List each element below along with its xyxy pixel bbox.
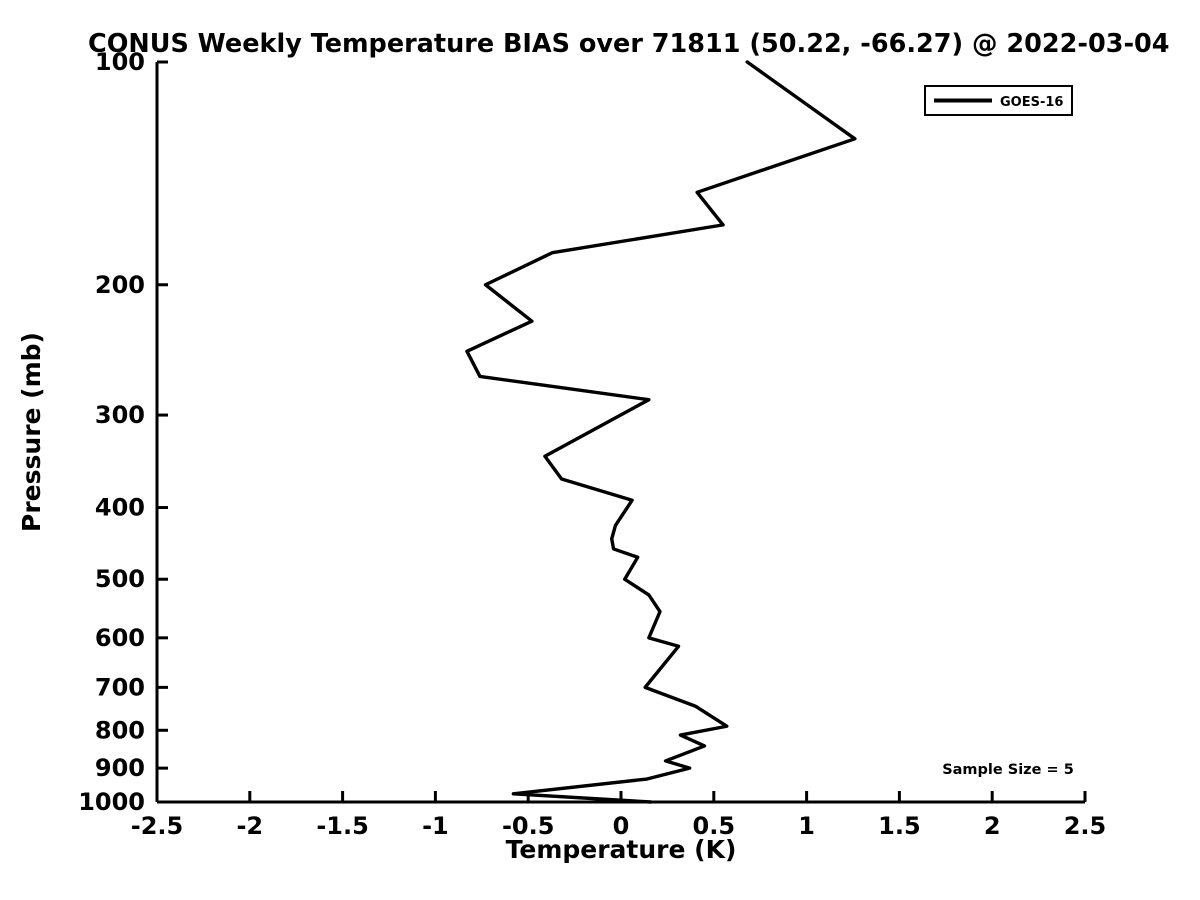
y-tick-label: 700 [95,673,145,701]
sample-size-annotation: Sample Size = 5 [942,762,1074,778]
x-tick-label: -1 [422,812,449,840]
x-tick-label: 1.5 [878,812,921,840]
legend-label-goes-16: GOES-16 [1000,95,1063,110]
y-tick-label: 600 [95,624,145,652]
chart-canvas: CONUS Weekly Temperature BIAS over 71811… [0,0,1200,900]
x-axis-label: Temperature (K) [506,835,737,864]
x-tick-label: 2 [984,812,1001,840]
y-tick-label: 800 [95,716,145,744]
legend-box[interactable]: GOES-16 [925,86,1072,115]
y-tick-label: 900 [95,754,145,782]
x-tick-label: -1.5 [316,812,368,840]
x-tick-label: 1 [798,812,815,840]
y-tick-label: 300 [95,401,145,429]
x-tick-label: 2.5 [1064,812,1107,840]
chart-title: CONUS Weekly Temperature BIAS over 71811… [88,29,1170,59]
x-tick-label: -2.5 [131,812,183,840]
y-tick-label: 200 [95,271,145,299]
y-axis-label: Pressure (mb) [17,332,46,532]
y-tick-label: 500 [95,565,145,593]
temperature-bias-profile-chart: CONUS Weekly Temperature BIAS over 71811… [0,0,1200,900]
x-tick-label: -2 [236,812,263,840]
y-tick-label: 400 [95,494,145,522]
y-tick-label: 1000 [78,788,145,816]
y-tick-label: 100 [95,48,145,76]
